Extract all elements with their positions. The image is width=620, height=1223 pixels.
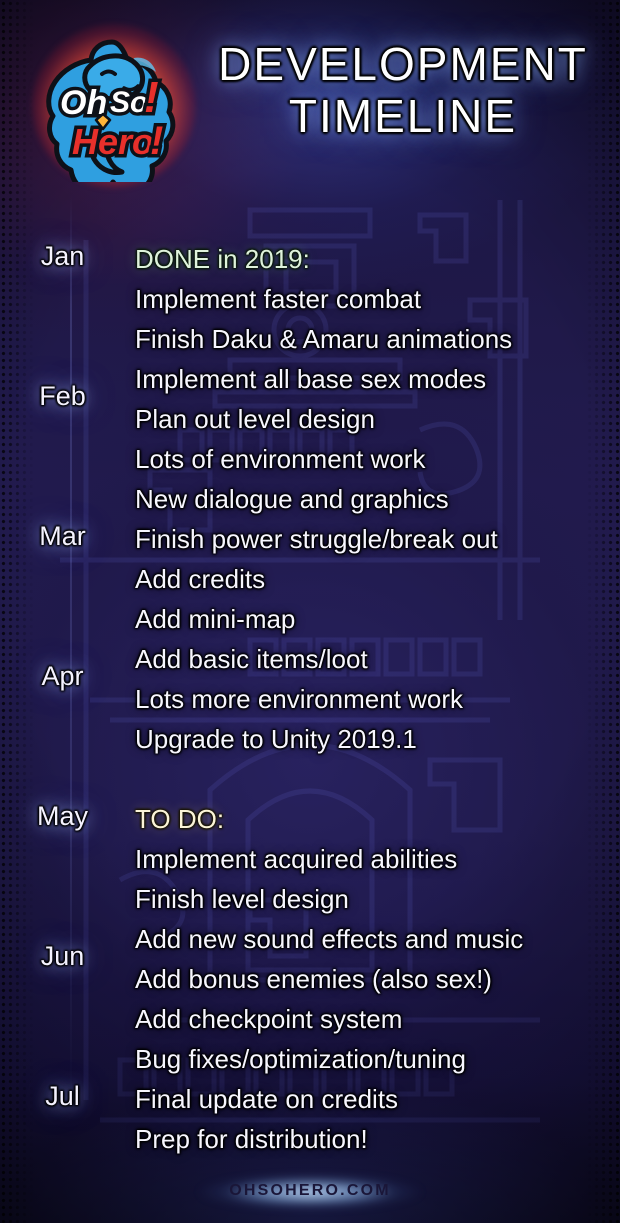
task-item: Add bonus enemies (also sex!) [135,964,492,995]
website-url[interactable]: OHSOHERO.COM [229,1182,391,1200]
title-line-2: TIMELINE [196,90,610,142]
task-item: Prep for distribution! [135,1124,368,1155]
task-item: Implement faster combat [135,284,421,315]
oh-so-hero-logo: Oh So ! Hero ! [38,30,190,182]
task-item: Implement acquired abilities [135,844,457,875]
development-timeline-poster: Oh So ! Hero ! DEVELOPMENT TIMELINE JanF… [0,0,620,1223]
month-label: May [0,801,125,832]
task-item: Add credits [135,564,265,595]
task-section-heading: TO DO: [135,804,224,835]
title-line-1: DEVELOPMENT [196,38,610,90]
task-section-heading: DONE in 2019: [135,244,310,275]
mascot-icon: Oh So ! Hero ! [38,30,190,182]
month-label: Mar [0,521,125,552]
month-label: Jun [0,941,125,972]
month-label: Jul [0,1081,125,1112]
poster-header: Oh So ! Hero ! DEVELOPMENT TIMELINE [0,0,620,196]
svg-text:!: ! [150,119,163,163]
month-label: Apr [0,661,125,692]
task-item: Add basic items/loot [135,644,368,675]
task-item: Finish Daku & Amaru animations [135,324,512,355]
poster-title: DEVELOPMENT TIMELINE [196,38,610,142]
month-column: JanFebMarAprMayJunJul [0,196,125,1171]
month-label: Feb [0,381,125,412]
svg-text:!: ! [144,73,159,122]
task-item: Add mini-map [135,604,295,635]
month-label: Jan [0,241,125,272]
task-column: DONE in 2019:Implement faster combatFini… [125,196,610,1171]
task-item: Add new sound effects and music [135,924,523,955]
task-item: Lots of environment work [135,444,425,475]
timeline-body: JanFebMarAprMayJunJul DONE in 2019:Imple… [0,196,620,1171]
poster-footer: OHSOHERO.COM [0,1175,620,1209]
task-item: Add checkpoint system [135,1004,402,1035]
svg-text:Hero: Hero [72,121,154,162]
task-item: Finish power struggle/break out [135,524,498,555]
task-item: Lots more environment work [135,684,463,715]
svg-text:So: So [110,86,148,119]
task-item: Final update on credits [135,1084,398,1115]
task-item: Implement all base sex modes [135,364,486,395]
task-item: Upgrade to Unity 2019.1 [135,724,417,755]
task-item: Bug fixes/optimization/tuning [135,1044,466,1075]
task-item: Finish level design [135,884,349,915]
task-item: Plan out level design [135,404,375,435]
task-item: New dialogue and graphics [135,484,449,515]
